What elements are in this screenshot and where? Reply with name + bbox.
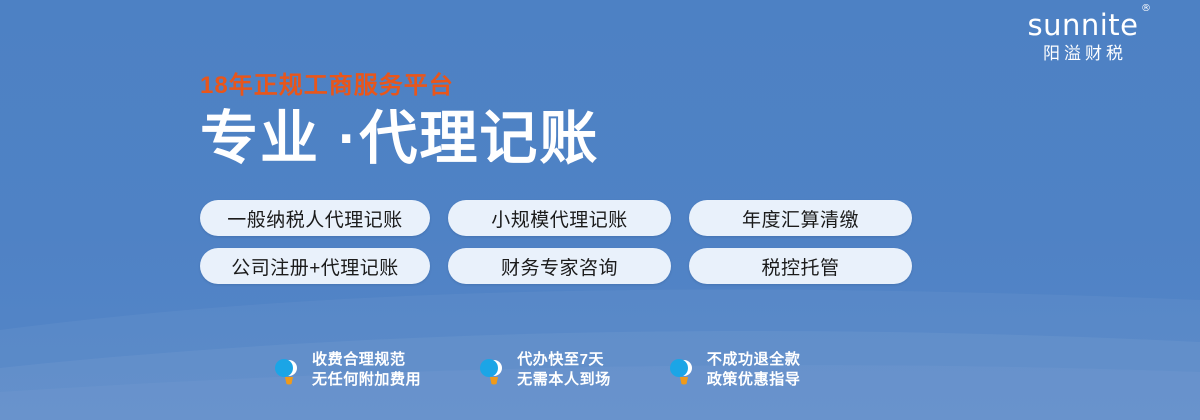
feature-line-1: 不成功退全款 xyxy=(707,350,801,370)
service-pill-grid: 一般纳税人代理记账 小规模代理记账 年度汇算清缴 公司注册+代理记账 财务专家咨… xyxy=(200,200,912,284)
service-pill-expert-consulting[interactable]: 财务专家咨询 xyxy=(448,248,671,284)
feature-line-1: 代办快至7天 xyxy=(517,350,611,370)
service-pill-general-taxpayer[interactable]: 一般纳税人代理记账 xyxy=(200,200,430,236)
promo-banner: sunnite ® 阳溢财税 18年正规工商服务平台 专业 ·代理记账 一般纳税… xyxy=(0,0,1200,420)
feature-text-pricing: 收费合理规范 无任何附加费用 xyxy=(312,350,421,390)
feature-item-pricing: 收费合理规范 无任何附加费用 xyxy=(272,350,421,390)
logo-wordmark: sunnite ® xyxy=(1027,8,1138,42)
logo-chinese-name: 阳溢财税 xyxy=(998,43,1168,65)
feature-line-2: 无需本人到场 xyxy=(517,370,611,390)
brand-logo[interactable]: sunnite ® 阳溢财税 xyxy=(998,8,1168,65)
service-pill-annual-settlement[interactable]: 年度汇算清缴 xyxy=(689,200,912,236)
logo-wordmark-text: sunnite xyxy=(1027,8,1138,42)
feature-text-speed: 代办快至7天 无需本人到场 xyxy=(517,350,611,390)
headline-block: 18年正规工商服务平台 专业 ·代理记账 xyxy=(200,72,920,172)
badge-circle-icon xyxy=(667,353,697,387)
feature-strip: 收费合理规范 无任何附加费用 代办快至7天 无需本人到场 xyxy=(272,350,800,390)
service-pill-tax-control-custody[interactable]: 税控托管 xyxy=(689,248,912,284)
feature-line-2: 政策优惠指导 xyxy=(707,370,801,390)
feature-line-1: 收费合理规范 xyxy=(312,350,421,370)
feature-item-speed: 代办快至7天 无需本人到场 xyxy=(477,350,611,390)
feature-line-2: 无任何附加费用 xyxy=(312,370,421,390)
feature-text-guarantee: 不成功退全款 政策优惠指导 xyxy=(707,350,801,390)
registered-trademark-icon: ® xyxy=(1141,4,1152,14)
page-title: 专业 ·代理记账 xyxy=(200,106,920,172)
feature-item-guarantee: 不成功退全款 政策优惠指导 xyxy=(667,350,801,390)
badge-circle-icon xyxy=(272,353,302,387)
service-pill-company-registration[interactable]: 公司注册+代理记账 xyxy=(200,248,430,284)
badge-circle-icon xyxy=(477,353,507,387)
service-pill-small-scale[interactable]: 小规模代理记账 xyxy=(448,200,671,236)
eyebrow-text: 18年正规工商服务平台 xyxy=(200,72,920,100)
